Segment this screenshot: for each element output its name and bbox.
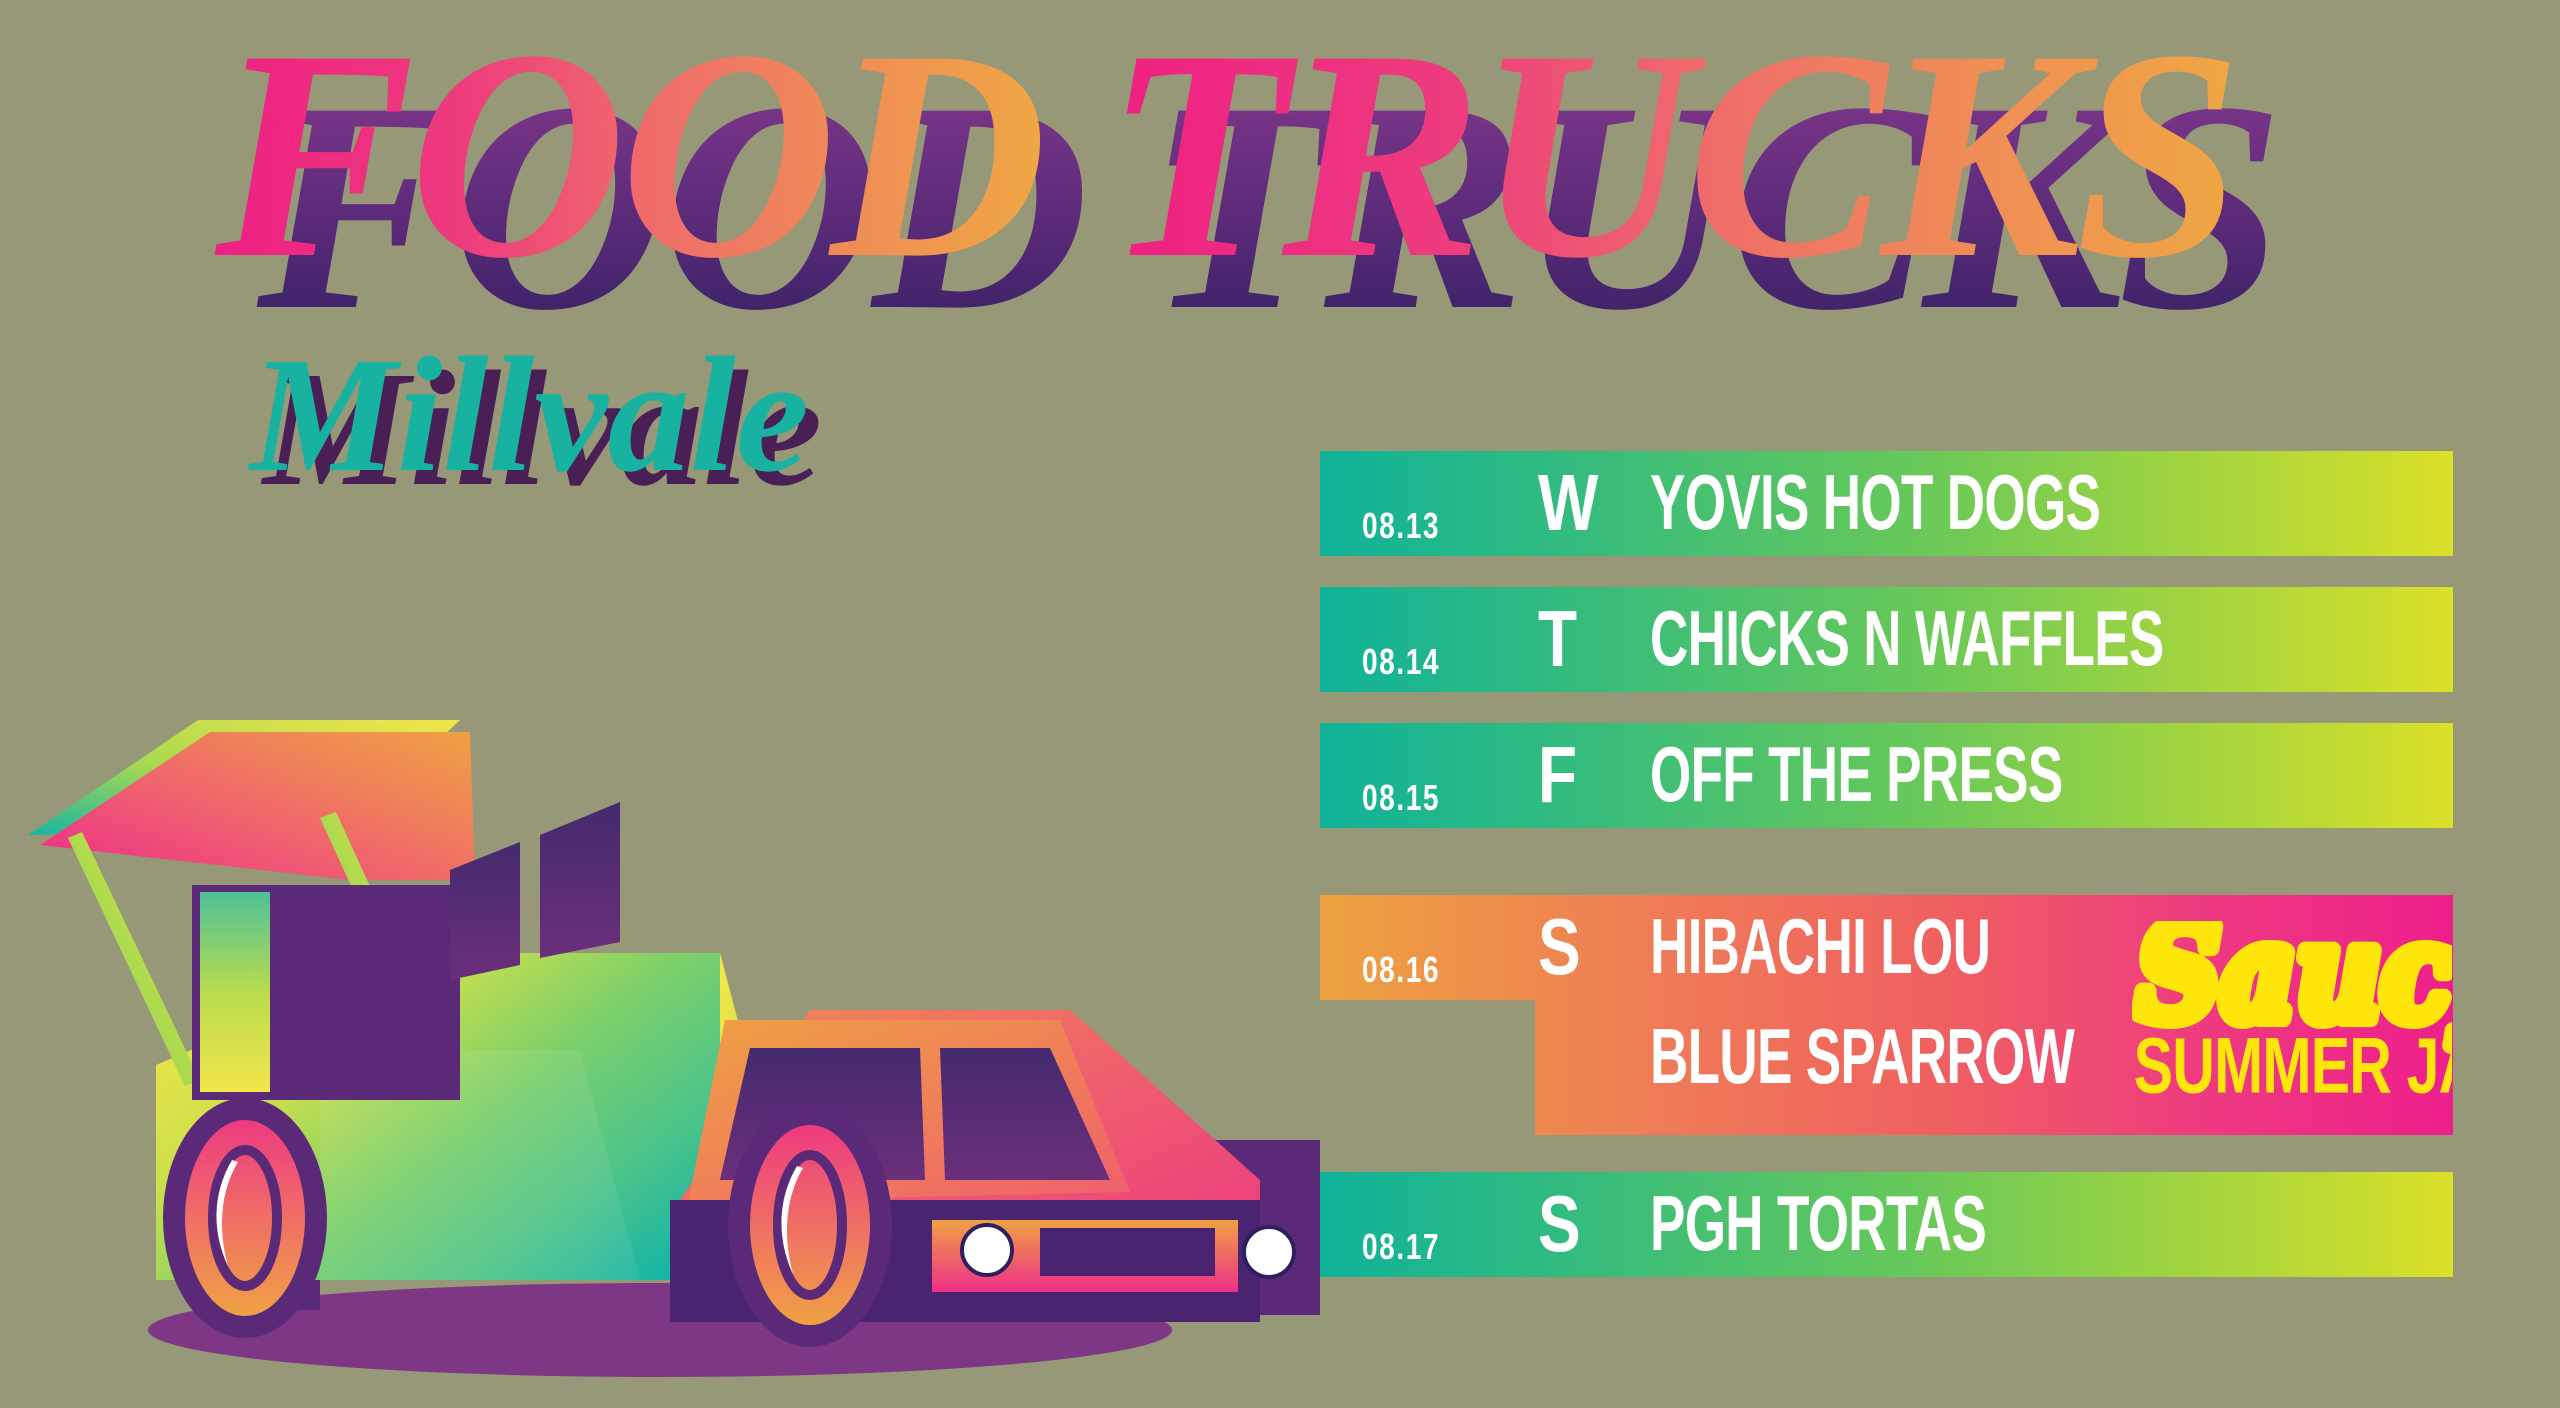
truck-headlight-left [962, 1225, 1012, 1275]
row-day-letter: T [1538, 599, 1577, 679]
row-day-letter: S [1538, 1184, 1581, 1264]
row-date: 08.13 [1362, 505, 1440, 547]
row-vendor-name: YOVIS HOT DOGS [1650, 465, 2100, 539]
row-vendor-name: OFF THE PRESS [1650, 737, 2063, 811]
schedule-list: 08.13 W YOVIS HOT DOGS 08.14 T CHICKS N … [1320, 440, 2460, 1300]
truck-side-window-2 [540, 802, 620, 958]
row-date: 08.15 [1362, 777, 1440, 819]
saucy-summer-jam-badge: Saucy SUMMER JAM [2132, 921, 2452, 1106]
truck-service-counter [200, 892, 270, 1092]
row-date: 08.17 [1362, 1226, 1440, 1268]
row-date: 08.16 [1362, 949, 1440, 991]
truck-rear-wheel [163, 1098, 327, 1338]
row-day-letter: S [1538, 907, 1581, 987]
schedule-row[interactable]: 08.17 S PGH TORTAS [1320, 1172, 2453, 1277]
row-vendor-name: PGH TORTAS [1650, 1186, 1986, 1260]
title-word-food: FOOD [210, 0, 1041, 320]
row-day-letter: F [1538, 735, 1577, 815]
row-vendor-name: HIBACHI LOU [1650, 909, 1990, 983]
schedule-row[interactable]: 08.14 T CHICKS N WAFFLES [1320, 587, 2453, 692]
food-truck-illustration [20, 580, 1320, 1390]
truck-awning-support-left [68, 832, 200, 1086]
subtitle-text: Millvale [247, 330, 809, 506]
truck-license-plate [1040, 1228, 1215, 1276]
truck-front-wheel [728, 1103, 892, 1347]
schedule-row[interactable]: 08.15 F OFF THE PRESS [1320, 723, 2453, 828]
badge-line-2: SUMMER JAM [2134, 1021, 2452, 1106]
row-vendor-name: CHICKS N WAFFLES [1650, 601, 2164, 675]
row-date: 08.14 [1362, 641, 1440, 683]
poster-title-block: FOOD TRUCKS FOOD TRUCKS Millvale Millval… [0, 0, 2330, 420]
title-food-trucks: FOOD TRUCKS FOOD TRUCKS [0, 0, 2330, 340]
schedule-row-saturday[interactable]: 08.16 S HIBACHI LOU BLUE SPARROW Saucy S… [1320, 895, 2453, 1135]
row-vendor-name-secondary: BLUE SPARROW [1650, 1019, 2074, 1093]
poster-canvas: FOOD TRUCKS FOOD TRUCKS Millvale Millval… [0, 0, 2560, 1408]
title-word-trucks: TRUCKS [1105, 0, 2236, 320]
truck-awning-panel [40, 732, 475, 880]
schedule-row[interactable]: 08.13 W YOVIS HOT DOGS [1320, 451, 2453, 556]
row-day-letter: W [1538, 463, 1598, 543]
subtitle-millvale: Millvale Millvale [230, 330, 930, 520]
truck-headlight-right [1244, 1227, 1294, 1277]
